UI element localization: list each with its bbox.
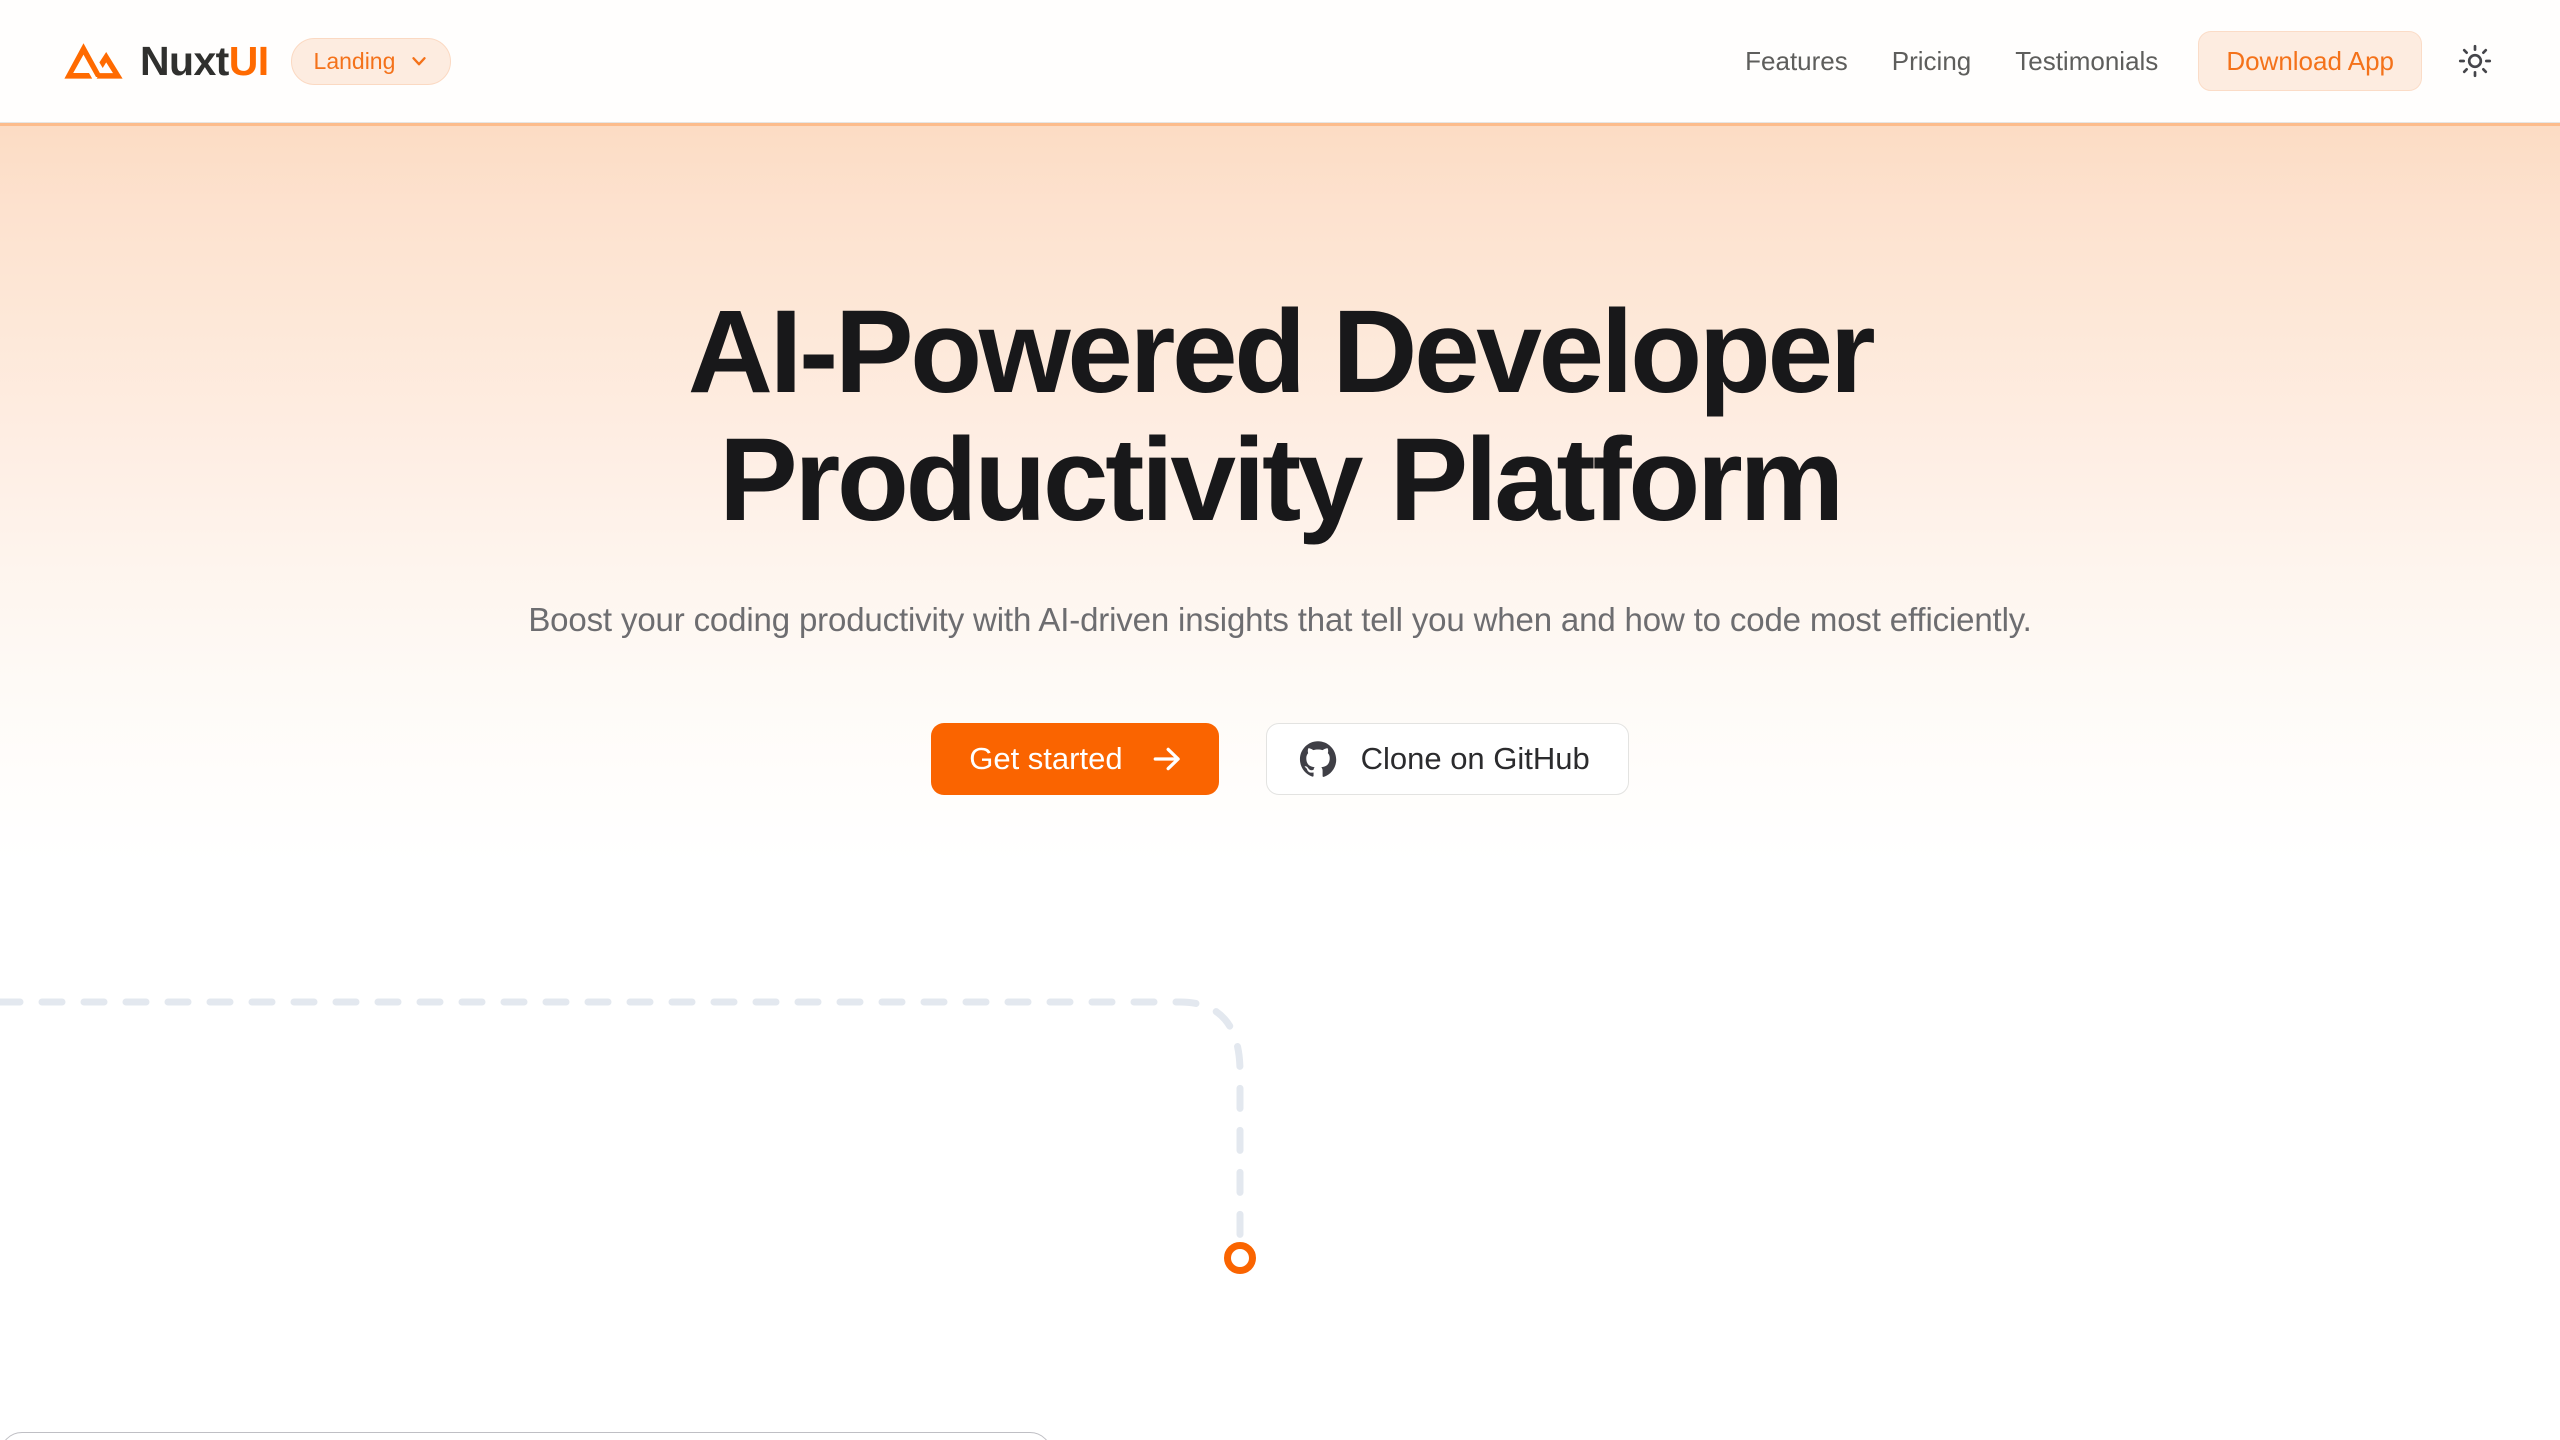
nav-item-testimonials[interactable]: Testimonials bbox=[1993, 38, 2180, 84]
dashed-path-line bbox=[0, 1002, 1240, 1240]
get-started-label: Get started bbox=[969, 743, 1122, 774]
brand-logo-link[interactable]: NuxtUI bbox=[62, 39, 269, 83]
get-started-button[interactable]: Get started bbox=[931, 723, 1218, 795]
brand-name: NuxtUI bbox=[140, 41, 269, 82]
nuxt-mountain-logo-icon bbox=[62, 39, 124, 83]
page-title: AI-Powered Developer Productivity Platfo… bbox=[460, 288, 2100, 544]
dashed-connector-decoration bbox=[0, 940, 1400, 1360]
sun-icon bbox=[2458, 44, 2492, 78]
nav-item-pricing[interactable]: Pricing bbox=[1870, 38, 1993, 84]
brand-name-accent: UI bbox=[229, 38, 269, 84]
landing-page: NuxtUI Landing Features Pricing Testimon… bbox=[0, 0, 2560, 1440]
chevron-down-icon bbox=[408, 50, 430, 72]
header-left-group: NuxtUI Landing bbox=[62, 38, 451, 85]
landing-badge-label: Landing bbox=[314, 50, 396, 73]
brand-name-primary: Nuxt bbox=[140, 38, 229, 84]
site-header: NuxtUI Landing Features Pricing Testimon… bbox=[0, 0, 2560, 123]
hero-title-line-1: AI-Powered Developer bbox=[688, 286, 1872, 418]
arrow-right-icon bbox=[1149, 741, 1185, 777]
landing-selector-badge[interactable]: Landing bbox=[291, 38, 452, 85]
clone-on-github-label: Clone on GitHub bbox=[1361, 743, 1590, 774]
clone-on-github-button[interactable]: Clone on GitHub bbox=[1266, 723, 1629, 795]
bottom-card-edge bbox=[0, 1432, 1052, 1440]
hero-section: AI-Powered Developer Productivity Platfo… bbox=[0, 123, 2560, 795]
hero-cta-group: Get started Clone on GitHub bbox=[0, 723, 2560, 795]
circle-node-icon bbox=[1228, 1246, 1253, 1271]
github-icon bbox=[1299, 740, 1337, 778]
download-app-button[interactable]: Download App bbox=[2198, 31, 2422, 91]
hero-title-line-2: Productivity Platform bbox=[719, 414, 1841, 546]
primary-navigation: Features Pricing Testimonials Download A… bbox=[1723, 31, 2502, 91]
nav-item-features[interactable]: Features bbox=[1723, 38, 1870, 84]
theme-toggle-button[interactable] bbox=[2448, 34, 2502, 88]
hero-subtitle: Boost your coding productivity with AI-d… bbox=[230, 596, 2330, 644]
